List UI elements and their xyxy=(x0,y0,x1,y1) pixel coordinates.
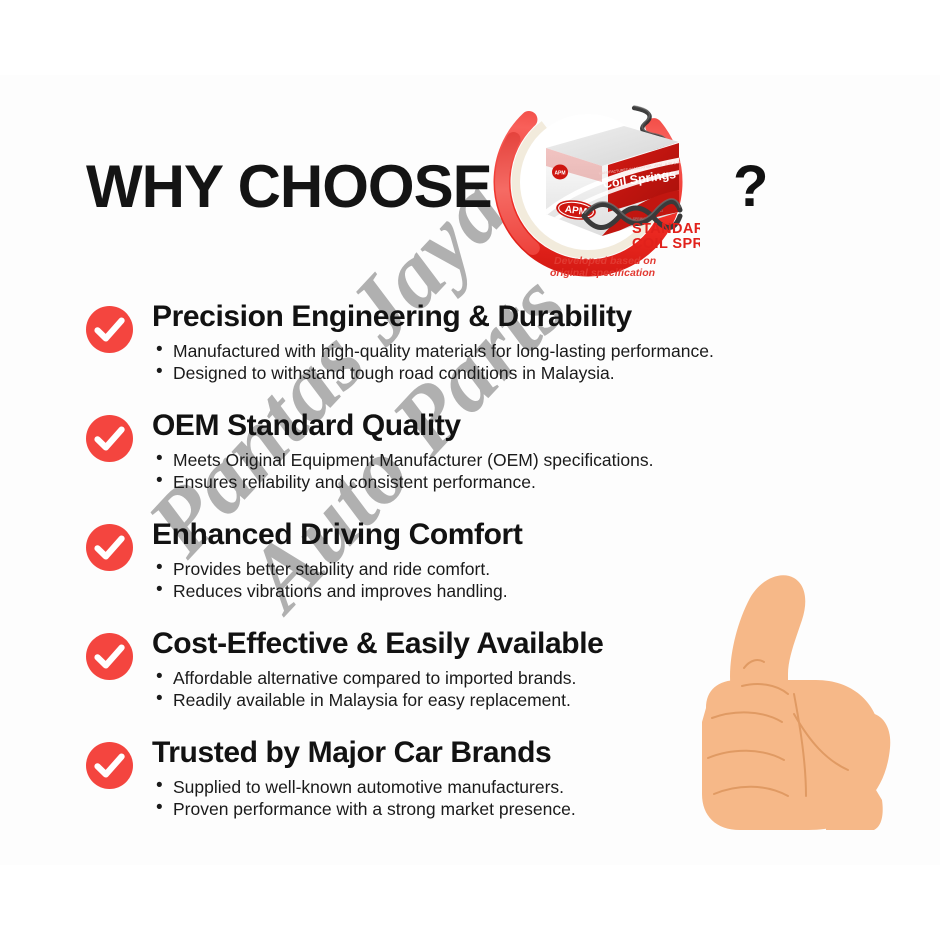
check-circle-icon xyxy=(86,306,133,353)
feature-bullets: Affordable alternative compared to impor… xyxy=(152,667,892,711)
feature-item: OEM Standard Quality Meets Original Equi… xyxy=(0,405,940,514)
feature-heading: Precision Engineering & Durability xyxy=(152,296,892,338)
bullet-item: Ensures reliability and consistent perfo… xyxy=(152,471,892,493)
feature-bullets: Meets Original Equipment Manufacturer (O… xyxy=(152,449,892,493)
feature-item: Enhanced Driving Comfort Provides better… xyxy=(0,514,940,623)
bullet-item: Reduces vibrations and improves handling… xyxy=(152,580,892,602)
feature-heading: Trusted by Major Car Brands xyxy=(152,732,892,774)
check-circle-icon xyxy=(86,742,133,789)
title-question-mark: ? xyxy=(733,150,768,224)
bullet-item: Supplied to well-known automotive manufa… xyxy=(152,776,892,798)
bullet-item: Proven performance with a strong market … xyxy=(152,798,892,820)
check-circle-icon xyxy=(86,633,133,680)
page-title: WHY CHOOSE xyxy=(86,150,492,224)
feature-item: Precision Engineering & Durability Manuf… xyxy=(0,296,940,405)
promo-poster: Pantas Jaya Auto Parts WHY CHOOSE ? xyxy=(0,0,940,940)
feature-heading: Cost-Effective & Easily Available xyxy=(152,623,892,665)
bullet-item: Manufactured with high-quality materials… xyxy=(152,340,892,362)
bullet-item: Affordable alternative compared to impor… xyxy=(152,667,892,689)
badge-subcaption-line-1: Developed based on xyxy=(554,255,656,267)
feature-bullets: Supplied to well-known automotive manufa… xyxy=(152,776,892,820)
feature-item: Cost-Effective & Easily Available Afford… xyxy=(0,623,940,732)
bullet-item: Provides better stability and ride comfo… xyxy=(152,558,892,580)
feature-heading: OEM Standard Quality xyxy=(152,405,892,447)
feature-bullets: Provides better stability and ride comfo… xyxy=(152,558,892,602)
bullet-item: Designed to withstand tough road conditi… xyxy=(152,362,892,384)
feature-bullets: Manufactured with high-quality materials… xyxy=(152,340,892,384)
feature-heading: Enhanced Driving Comfort xyxy=(152,514,892,556)
check-circle-icon xyxy=(86,524,133,571)
bullet-item: Readily available in Malaysia for easy r… xyxy=(152,689,892,711)
check-circle-icon xyxy=(86,415,133,462)
badge-subcaption-line-2: original specification xyxy=(550,267,655,279)
feature-list: Precision Engineering & Durability Manuf… xyxy=(0,296,940,841)
feature-item: Trusted by Major Car Brands Supplied to … xyxy=(0,732,940,841)
title-row: WHY CHOOSE ? xyxy=(0,150,940,240)
bullet-item: Meets Original Equipment Manufacturer (O… xyxy=(152,449,892,471)
